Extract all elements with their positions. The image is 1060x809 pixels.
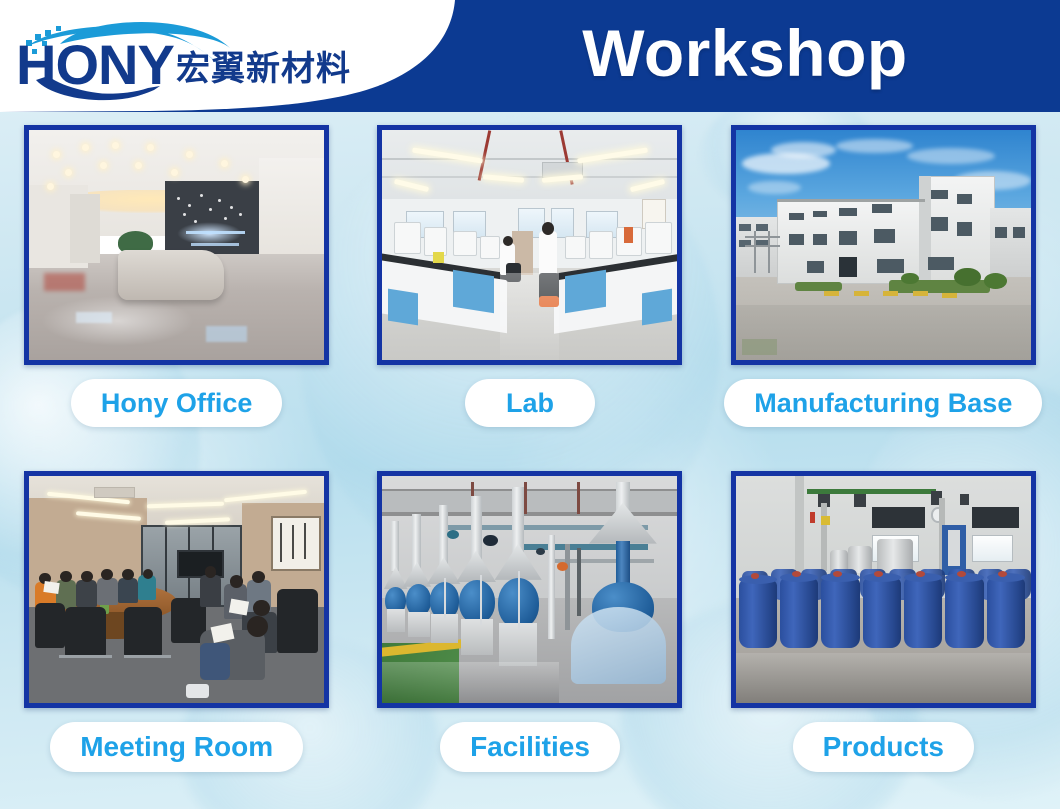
laboratory-photo: [382, 130, 677, 360]
image-frame: [731, 125, 1036, 365]
card-label: Products: [823, 731, 944, 763]
image-frame: [24, 471, 329, 708]
gallery-card-facilities[interactable]: Facilities: [353, 461, 706, 809]
card-label-pill[interactable]: Products: [793, 722, 974, 772]
card-label: Meeting Room: [80, 731, 273, 763]
card-label-pill[interactable]: Hony Office: [71, 379, 283, 427]
image-frame: [377, 125, 682, 365]
logo-wordmark-cn: 宏翼新材料: [176, 49, 351, 88]
gallery-card-lab[interactable]: Lab: [353, 112, 706, 461]
image-frame: [731, 471, 1036, 708]
workshop-page: HONY 宏翼新材料 Workshop: [0, 0, 1060, 809]
image-frame: [24, 125, 329, 365]
blue-drums-products-photo: [736, 476, 1031, 703]
meeting-room-photo: [29, 476, 324, 703]
page-header: HONY 宏翼新材料 Workshop: [0, 0, 1060, 112]
gallery-card-products[interactable]: Products: [707, 461, 1060, 809]
image-frame: [377, 471, 682, 708]
reactor-facilities-photo: [382, 476, 677, 703]
gallery-card-hony-office[interactable]: Hony Office: [0, 112, 353, 461]
factory-building-photo: [736, 130, 1031, 360]
logo-wordmark: HONY: [16, 33, 174, 96]
card-label: Manufacturing Base: [754, 388, 1012, 419]
card-label: Facilities: [470, 731, 590, 763]
gallery-card-manufacturing-base[interactable]: Manufacturing Base: [707, 112, 1060, 461]
card-label-pill[interactable]: Manufacturing Base: [724, 379, 1042, 427]
card-label: Hony Office: [101, 388, 253, 419]
workshop-gallery-grid: Hony Office: [0, 112, 1060, 809]
gallery-card-meeting-room[interactable]: Meeting Room: [0, 461, 353, 809]
card-label-pill[interactable]: Meeting Room: [50, 722, 303, 772]
card-label-pill[interactable]: Lab: [465, 379, 595, 427]
card-label: Lab: [506, 388, 554, 419]
page-title: Workshop: [430, 0, 1060, 106]
office-reception-photo: [29, 130, 324, 360]
card-label-pill[interactable]: Facilities: [440, 722, 620, 772]
company-logo: HONY 宏翼新材料: [8, 10, 358, 102]
